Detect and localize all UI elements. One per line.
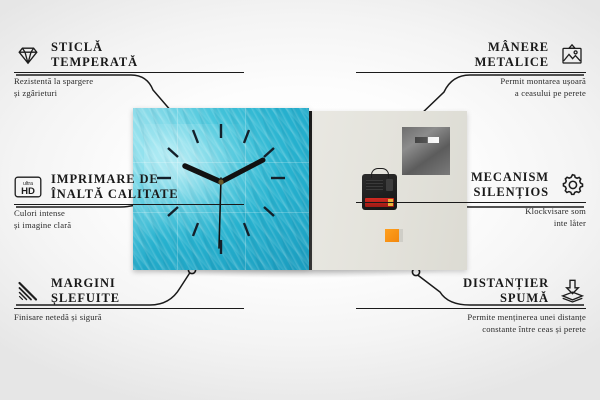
ultra-hd-icon: ultra HD	[14, 173, 42, 201]
feature-rule	[356, 72, 586, 73]
feature-rule	[356, 308, 586, 309]
feature-header: MARGINI ȘLEFUITE	[14, 276, 244, 305]
hanger-slot	[415, 137, 439, 143]
feature-title: MECANISM SILENȚIOS	[471, 170, 549, 199]
feature-title: STICLĂ TEMPERATĂ	[51, 40, 138, 69]
feature-header: STICLĂ TEMPERATĂ	[14, 40, 244, 69]
feature-title: DISTANȚIER SPUMĂ	[463, 276, 549, 305]
feature-desc-line2: și imagine clară	[14, 220, 244, 232]
metal-hanger-plate	[402, 127, 450, 175]
feature-desc-line2: inte låter	[356, 218, 586, 230]
feature-description: Permite menținerea unei distanțe constan…	[356, 312, 586, 335]
feature-title: IMPRIMARE DE ÎNALTĂ CALITATE	[51, 172, 179, 201]
feature-rule	[14, 72, 244, 73]
feature-description: Finisare netedă și sigură	[14, 312, 244, 324]
feature-title: MÂNERE METALICE	[475, 40, 549, 69]
hanging-picture-icon	[558, 41, 586, 69]
feature-description: Klockvisare som inte låter	[356, 206, 586, 229]
feature-desc-line1: Finisare netedă și sigură	[14, 312, 244, 324]
feature-desc-line1: Klockvisare som	[356, 206, 586, 218]
feature-title-line2: ȘLEFUITE	[51, 291, 120, 306]
feature-desc-line2: constante între ceas și perete	[356, 324, 586, 336]
feature-description: Permit montarea ușoară a ceasului pe per…	[356, 76, 586, 99]
glass-panel-edge	[309, 111, 312, 270]
diagonal-lines-icon	[14, 277, 42, 305]
feature-tempered-glass: STICLĂ TEMPERATĂ Rezistentă la spargere …	[14, 40, 244, 100]
feature-high-quality-print: ultra HD IMPRIMARE DE ÎNALTĂ CALITATE Cu…	[14, 172, 244, 232]
svg-text:HD: HD	[21, 186, 35, 197]
feature-title-line1: MÂNERE	[475, 40, 549, 55]
product-infographic: STICLĂ TEMPERATĂ Rezistentă la spargere …	[0, 0, 600, 400]
gear-icon	[558, 171, 586, 199]
feature-polished-edges: MARGINI ȘLEFUITE Finisare netedă și sigu…	[14, 276, 244, 324]
feature-metal-hooks: MÂNERE METALICE Permit montarea ușoară a…	[356, 40, 586, 100]
feature-desc-line1: Permite menținerea unei distanțe	[356, 312, 586, 324]
feature-header: MECANISM SILENȚIOS	[356, 170, 586, 199]
feature-header: DISTANȚIER SPUMĂ	[356, 276, 586, 305]
feature-silent-mechanism: MECANISM SILENȚIOS Klockvisare som inte …	[356, 170, 586, 230]
feature-title-line2: TEMPERATĂ	[51, 55, 138, 70]
feature-desc-line2: și zgârieturi	[14, 88, 244, 100]
feature-desc-line1: Rezistentă la spargere	[14, 76, 244, 88]
feature-desc-line1: Permit montarea ușoară	[356, 76, 586, 88]
feature-title-line2: SILENȚIOS	[471, 185, 549, 200]
diamond-icon	[14, 41, 42, 69]
feature-title-line1: STICLĂ	[51, 40, 138, 55]
feature-header: MÂNERE METALICE	[356, 40, 586, 69]
feature-description: Rezistentă la spargere și zgârieturi	[14, 76, 244, 99]
foam-spacer-pad	[385, 229, 399, 242]
feature-description: Culori intense și imagine clară	[14, 208, 244, 231]
feature-rule	[14, 308, 244, 309]
feature-rule	[14, 204, 244, 205]
feature-title-line1: IMPRIMARE DE	[51, 172, 179, 187]
feature-title-line2: ÎNALTĂ CALITATE	[51, 187, 179, 202]
feature-desc-line2: a ceasului pe perete	[356, 88, 586, 100]
feature-title: MARGINI ȘLEFUITE	[51, 276, 120, 305]
feature-desc-line1: Culori intense	[14, 208, 244, 220]
foam-spacer-pad-side	[399, 229, 403, 242]
feature-title-line1: MARGINI	[51, 276, 120, 291]
feature-rule	[356, 202, 586, 203]
feature-title-line2: SPUMĂ	[463, 291, 549, 306]
feature-title-line2: METALICE	[475, 55, 549, 70]
feature-title-line1: DISTANȚIER	[463, 276, 549, 291]
feature-foam-spacer: DISTANȚIER SPUMĂ Permite menținerea unei…	[356, 276, 586, 336]
feature-title-line1: MECANISM	[471, 170, 549, 185]
feature-header: ultra HD IMPRIMARE DE ÎNALTĂ CALITATE	[14, 172, 244, 201]
press-down-icon	[558, 277, 586, 305]
